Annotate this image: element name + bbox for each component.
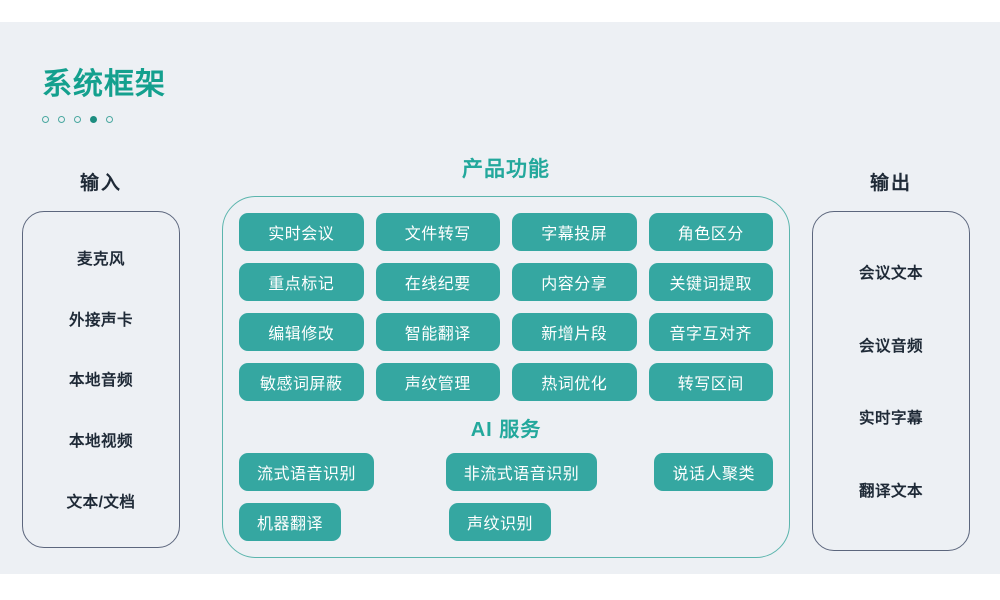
feature-chip[interactable]: 热词优化 [512,363,637,401]
input-column: 输入 麦克风 外接声卡 本地音频 本地视频 文本/文档 [22,168,180,548]
page-title: 系统框架 [42,70,166,100]
feature-chip[interactable]: 文件转写 [376,213,501,251]
ai-chip-slot: 声纹识别 [449,503,661,541]
product-heading: 产品功能 [222,153,790,183]
slide-canvas: 系统框架 输入 麦克风 外接声卡 本地音频 本地视频 文本/文档 输出 会议文本… [0,22,1000,574]
dot-icon-filled [90,116,97,123]
list-item: 外接声卡 [69,308,133,330]
ai-service-chip[interactable]: 机器翻译 [239,503,341,541]
ai-service-chip[interactable]: 流式语音识别 [239,453,374,491]
ai-chip-slot: 机器翻译 [239,503,449,541]
list-item: 会议文本 [859,261,923,283]
feature-chip[interactable]: 声纹管理 [376,363,501,401]
feature-chip[interactable]: 智能翻译 [376,313,501,351]
dot-icon [58,116,65,123]
feature-chip[interactable]: 关键词提取 [649,263,774,301]
dot-icon [74,116,81,123]
ai-services-heading: AI 服务 [239,413,773,442]
input-panel: 麦克风 外接声卡 本地音频 本地视频 文本/文档 [22,211,180,548]
list-item: 本地音频 [69,368,133,390]
feature-chip[interactable]: 内容分享 [512,263,637,301]
ai-chip-slot: 说话人聚类 [654,453,773,491]
feature-chip[interactable]: 新增片段 [512,313,637,351]
output-heading: 输出 [812,168,970,195]
ai-chip-slot: 非流式语音识别 [446,453,655,491]
title-block: 系统框架 [42,70,166,123]
feature-chip[interactable]: 重点标记 [239,263,364,301]
feature-chip[interactable]: 音字互对齐 [649,313,774,351]
list-item: 翻译文本 [859,479,923,501]
list-item: 本地视频 [69,429,133,451]
ai-services-row: 流式语音识别 非流式语音识别 说话人聚类 [239,453,773,491]
decorative-dot-row [42,116,166,123]
ai-service-chip[interactable]: 声纹识别 [449,503,551,541]
product-chip-grid: 实时会议 文件转写 字幕投屏 角色区分 重点标记 在线纪要 内容分享 关键词提取… [239,213,773,401]
feature-chip[interactable]: 实时会议 [239,213,364,251]
feature-chip[interactable]: 角色区分 [649,213,774,251]
feature-chip[interactable]: 在线纪要 [376,263,501,301]
product-column: 产品功能 实时会议 文件转写 字幕投屏 角色区分 重点标记 在线纪要 内容分享 … [222,153,790,558]
output-panel: 会议文本 会议音频 实时字幕 翻译文本 [812,211,970,551]
feature-chip[interactable]: 字幕投屏 [512,213,637,251]
ai-chip-slot: 流式语音识别 [239,453,446,491]
feature-chip[interactable]: 编辑修改 [239,313,364,351]
input-heading: 输入 [22,168,180,195]
dot-icon [42,116,49,123]
list-item: 文本/文档 [67,490,136,512]
ai-services-row: 机器翻译 声纹识别 [239,503,773,541]
ai-services-rows: 流式语音识别 非流式语音识别 说话人聚类 机器翻译 声纹识别 [239,453,773,541]
list-item: 麦克风 [77,247,125,269]
list-item: 实时字幕 [859,406,923,428]
ai-service-chip[interactable]: 说话人聚类 [654,453,773,491]
dot-icon [106,116,113,123]
product-panel: 实时会议 文件转写 字幕投屏 角色区分 重点标记 在线纪要 内容分享 关键词提取… [222,196,790,558]
feature-chip[interactable]: 转写区间 [649,363,774,401]
feature-chip[interactable]: 敏感词屏蔽 [239,363,364,401]
list-item: 会议音频 [859,334,923,356]
ai-service-chip[interactable]: 非流式语音识别 [446,453,598,491]
output-column: 输出 会议文本 会议音频 实时字幕 翻译文本 [812,168,970,551]
